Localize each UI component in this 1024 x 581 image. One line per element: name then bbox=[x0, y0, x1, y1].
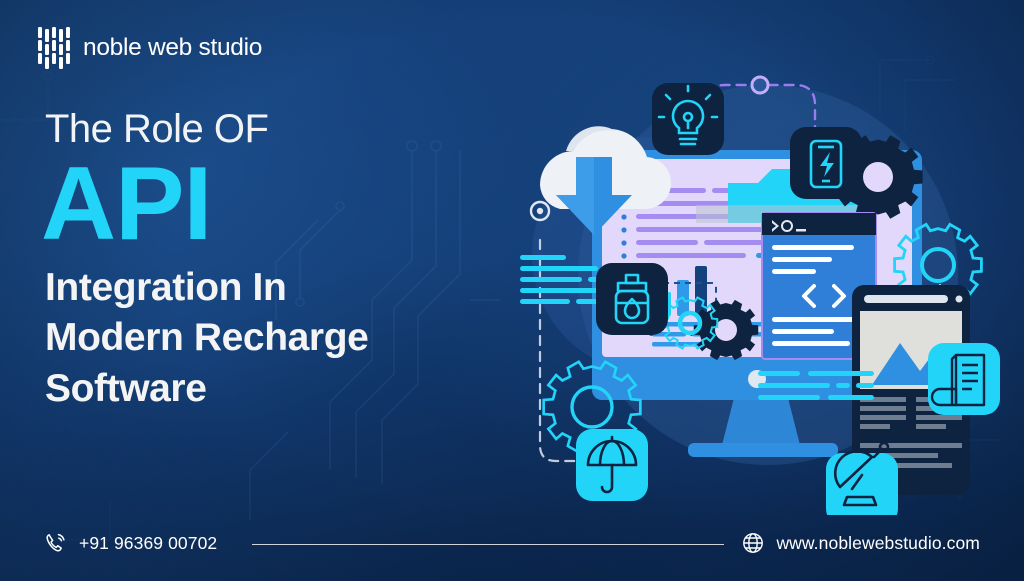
barcode-grid-icon bbox=[38, 27, 70, 69]
footer-bar: +91 96369 00702 www.noblewebstudio.com bbox=[0, 527, 1024, 559]
connector-node-top bbox=[752, 77, 768, 93]
hero-illustration bbox=[500, 55, 1024, 515]
phone-call-icon bbox=[44, 531, 68, 555]
brand-logo[interactable]: noble web studio bbox=[38, 27, 262, 69]
contact-website[interactable]: www.noblewebstudio.com bbox=[741, 531, 980, 555]
website-url: www.noblewebstudio.com bbox=[776, 533, 980, 554]
headline-line-4: Software bbox=[45, 364, 515, 414]
phone-number: +91 96369 00702 bbox=[79, 533, 217, 554]
globe-icon bbox=[741, 531, 765, 555]
footer-divider bbox=[252, 544, 724, 545]
brand-name: noble web studio bbox=[83, 34, 262, 62]
headline-body: Integration In Modern Recharge Software bbox=[45, 263, 515, 414]
floating-text-lines-right bbox=[758, 371, 874, 400]
headline-line-2: Integration In bbox=[45, 263, 515, 313]
mobile-lightning-icon[interactable] bbox=[790, 127, 862, 199]
banner-root: noble web studio The Role OF API Integra… bbox=[0, 0, 1024, 581]
gas-cylinder-icon[interactable] bbox=[596, 263, 668, 335]
headline-line-3: Modern Recharge bbox=[45, 313, 515, 363]
headline-block: The Role OF API Integration In Modern Re… bbox=[45, 108, 515, 414]
bill-receipt-icon[interactable] bbox=[928, 343, 1000, 415]
headline-emphasis-api: API bbox=[41, 152, 515, 256]
umbrella-icon[interactable] bbox=[576, 429, 648, 501]
contact-phone[interactable]: +91 96369 00702 bbox=[44, 531, 217, 555]
lightbulb-icon[interactable] bbox=[652, 83, 724, 155]
headline-eyebrow: The Role OF bbox=[45, 108, 515, 150]
